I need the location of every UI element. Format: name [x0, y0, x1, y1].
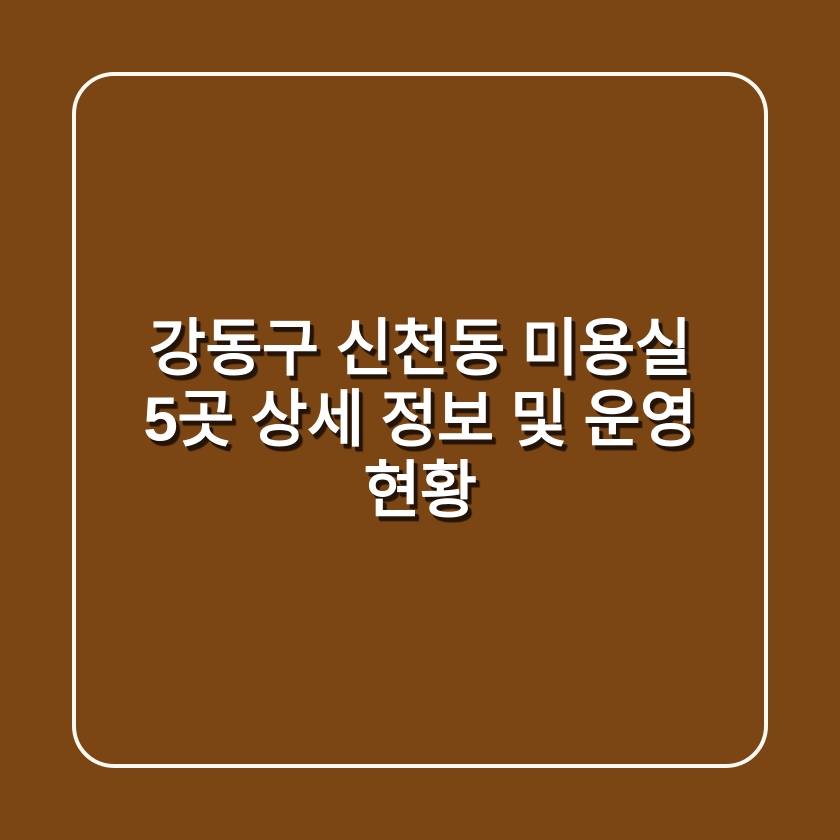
title-line-2: 5곳 상세 정보 및 운영	[143, 386, 696, 455]
title-line-1: 강동구 신천동 미용실	[149, 315, 691, 384]
title-line-3: 현황	[363, 457, 476, 526]
title-block: 강동구 신천동 미용실5곳 상세 정보 및 운영현황	[0, 314, 840, 527]
thumbnail-canvas: 강동구 신천동 미용실5곳 상세 정보 및 운영현황	[0, 0, 840, 840]
page-title: 강동구 신천동 미용실5곳 상세 정보 및 운영현황	[110, 314, 730, 527]
